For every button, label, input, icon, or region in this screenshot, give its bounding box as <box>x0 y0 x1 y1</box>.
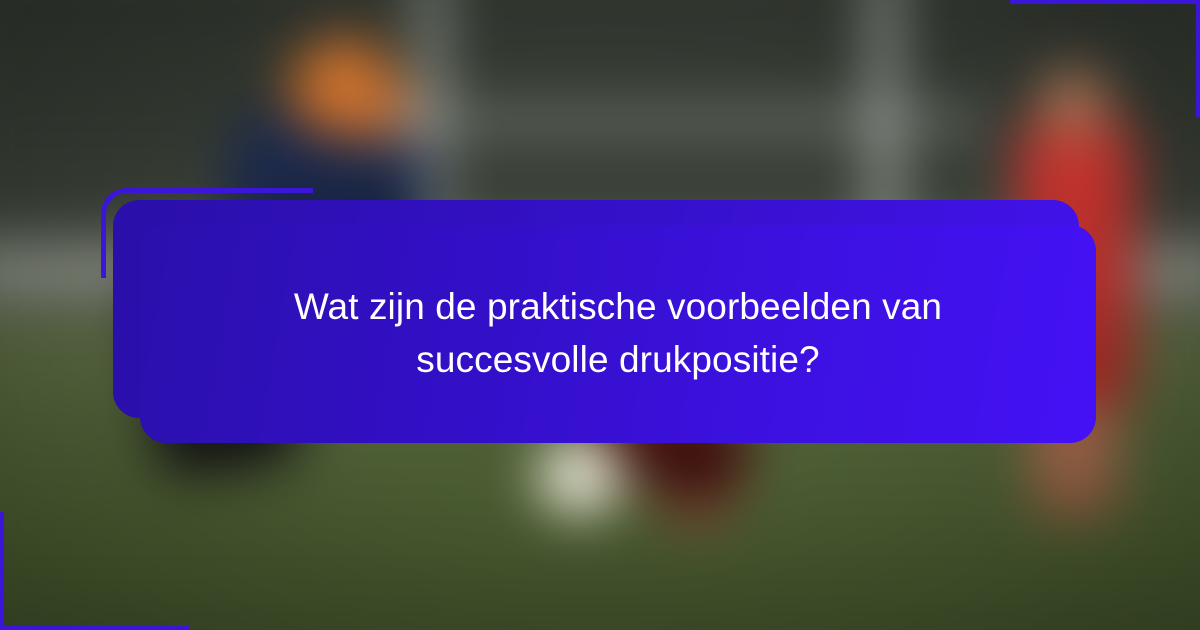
corner-line-4 <box>1070 0 1200 64</box>
page-title: Wat zijn de praktische voorbeelden van s… <box>238 281 998 386</box>
corner-line-4 <box>0 566 130 630</box>
social-card-stage: Wat zijn de praktische voorbeelden van s… <box>0 0 1200 630</box>
corner-ornament-bottom-left <box>0 512 190 630</box>
card-front-layer: Wat zijn de praktische voorbeelden van s… <box>140 225 1096 443</box>
corner-ornament-top-right <box>1010 0 1200 118</box>
